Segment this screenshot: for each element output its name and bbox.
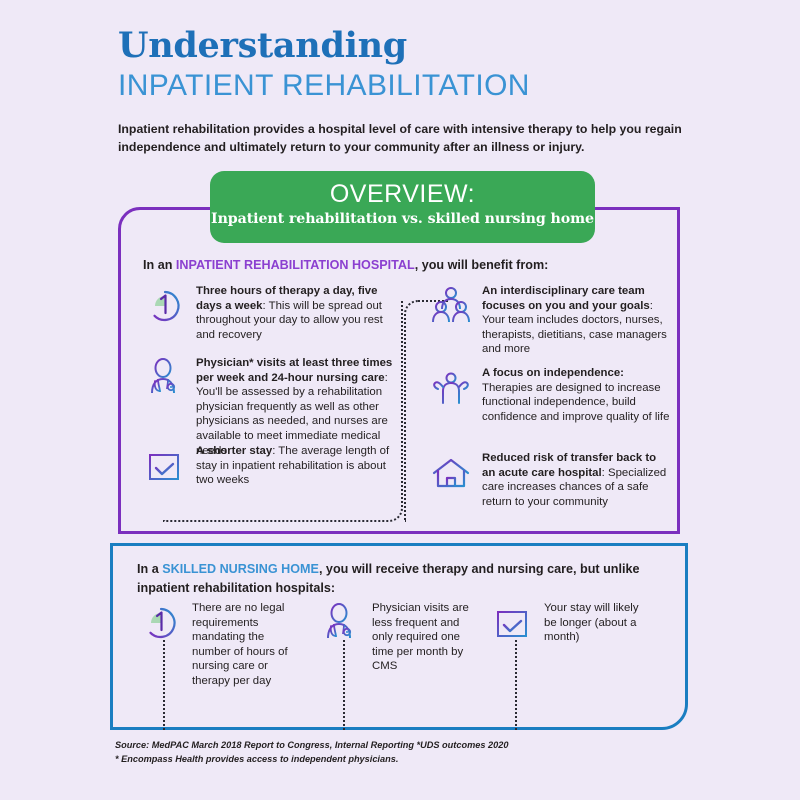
- physician-icon: [142, 355, 188, 401]
- footer-line-2: * Encompass Health provides access to in…: [115, 752, 715, 766]
- footer-line-1: Source: MedPAC March 2018 Report to Cong…: [115, 738, 715, 752]
- footer-source: Source: MedPAC March 2018 Report to Cong…: [115, 738, 715, 766]
- page-title: Understanding: [118, 26, 718, 66]
- intro-paragraph: Inpatient rehabilitation provides a hosp…: [118, 120, 698, 156]
- overview-banner: OVERVIEW: Inpatient rehabilitation vs. s…: [210, 171, 595, 243]
- heading-highlight: INPATIENT REHABILITATION HOSPITAL: [176, 258, 415, 272]
- page-subtitle: INPATIENT REHABILITATION: [118, 68, 718, 104]
- header: Understanding INPATIENT REHABILITATION I…: [118, 26, 718, 156]
- clock-icon: [142, 283, 188, 329]
- snf-item-text: There are no legal requirements mandatin…: [192, 600, 302, 689]
- heading-highlight: SKILLED NURSING HOME: [162, 562, 319, 576]
- house-icon: [428, 450, 474, 496]
- physician-icon: [318, 600, 364, 646]
- benefit-item-reduced-transfer-risk: Reduced risk of transfer back to an acut…: [428, 450, 678, 509]
- benefit-item-independence: A focus on independence: Therapies are d…: [428, 365, 678, 424]
- benefit-item-text: Three hours of therapy a day, five days …: [196, 283, 396, 342]
- snf-item-text: Your stay will likely be longer (about a…: [544, 600, 654, 646]
- heading-prefix: In an: [143, 258, 176, 272]
- benefit-item-text: Reduced risk of transfer back to an acut…: [482, 450, 672, 509]
- snf-item-text: Physician visits are less frequent and o…: [372, 600, 477, 674]
- skilled-nursing-heading: In a SKILLED NURSING HOME, you will rece…: [137, 560, 657, 598]
- benefit-item-bold: An interdisciplinary care team focuses o…: [482, 285, 650, 312]
- benefit-item-therapy-hours: Three hours of therapy a day, five days …: [142, 283, 400, 342]
- snf-item-longer-stay: Your stay will likely be longer (about a…: [490, 600, 665, 646]
- benefit-item-text: A shorter stay: The average length of st…: [196, 443, 396, 489]
- heading-prefix: In a: [137, 562, 162, 576]
- benefit-item-bold: A shorter stay: [196, 445, 272, 457]
- benefit-item-bold: A focus on independence:: [482, 367, 624, 379]
- clock-icon: [138, 600, 184, 646]
- care-team-icon: [428, 283, 474, 329]
- infographic-page: Understanding INPATIENT REHABILITATION I…: [0, 0, 800, 800]
- benefit-item-text: An interdisciplinary care team focuses o…: [482, 283, 672, 357]
- calendar-check-icon: [490, 600, 536, 646]
- heading-suffix: , you will benefit from:: [415, 258, 549, 272]
- benefit-item-text: A focus on independence: Therapies are d…: [482, 365, 672, 424]
- snf-item-physician-visits: Physician visits are less frequent and o…: [318, 600, 483, 674]
- snf-item-no-legal-requirements: There are no legal requirements mandatin…: [138, 600, 308, 689]
- bottom-dotted-connector-3: [515, 640, 517, 730]
- independence-icon: [428, 365, 474, 411]
- benefit-item-care-team: An interdisciplinary care team focuses o…: [428, 283, 678, 357]
- overview-banner-title: OVERVIEW:: [210, 171, 595, 209]
- inpatient-rehab-heading: In an INPATIENT REHABILITATION HOSPITAL,…: [143, 256, 643, 275]
- benefit-item-rest: Therapies are designed to increase funct…: [482, 382, 669, 423]
- benefit-item-bold: Physician* visits at least three times p…: [196, 357, 392, 384]
- calendar-check-icon: [142, 443, 188, 489]
- overview-banner-subtitle: Inpatient rehabilitation vs. skilled nur…: [210, 209, 595, 229]
- benefit-item-shorter-stay: A shorter stay: The average length of st…: [142, 443, 400, 489]
